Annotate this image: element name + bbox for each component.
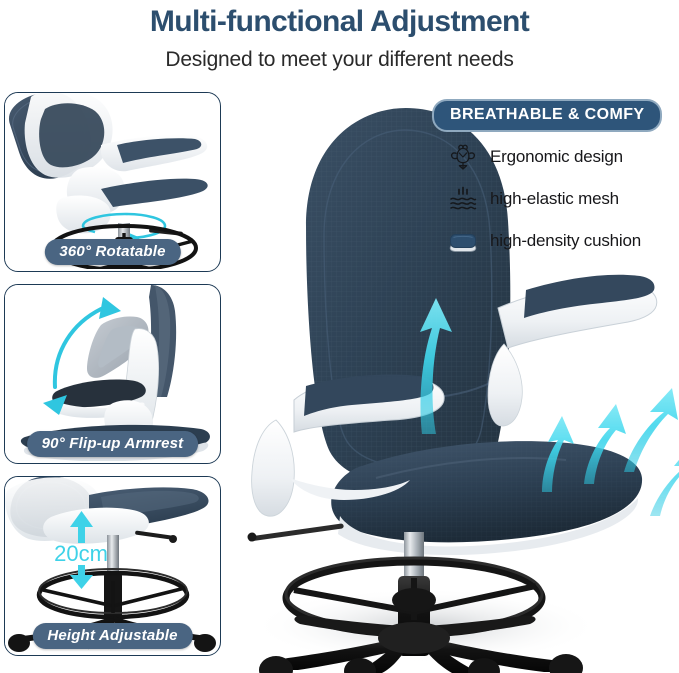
breathable-comfy-badge: BREATHABLE & COMFY [432,99,662,132]
page-title: Multi-functional Adjustment [0,0,679,40]
feature-item-high-elastic-mesh: high-elastic mesh [446,178,679,220]
panel-height-adjustable: 20cm Height Adjustable [4,476,221,656]
panel-badge-360-rotatable: 360° Rotatable [44,239,180,265]
airflow-waves-icon [446,182,480,216]
measurement-label-20cm: 20cm [54,541,108,566]
page-subtitle: Designed to meet your different needs [0,40,679,73]
caster [549,654,583,673]
panel-360-rotatable: 360° Rotatable [4,92,221,272]
feature-label: Ergonomic design [490,147,623,167]
page-header: Multi-functional Adjustment Designed to … [0,0,679,86]
cushion-icon [446,224,480,258]
feature-label: high-density cushion [490,231,641,251]
panel-flip-up-armrest: 90° Flip-up Armrest [4,284,221,464]
armrest-right [488,275,657,426]
feature-item-ergonomic-design: Ergonomic design [446,136,679,178]
panel-badge-height-adjustable: Height Adjustable [32,623,192,649]
feature-list: Ergonomic design high-elastic mesh [446,136,679,262]
feature-item-high-density-cushion: high-density cushion [446,220,679,262]
height-lever [248,523,344,541]
cotton-boll-icon [446,140,480,174]
feature-label: high-elastic mesh [490,189,619,209]
panel-badge-flip-up-armrest: 90° Flip-up Armrest [27,431,199,457]
